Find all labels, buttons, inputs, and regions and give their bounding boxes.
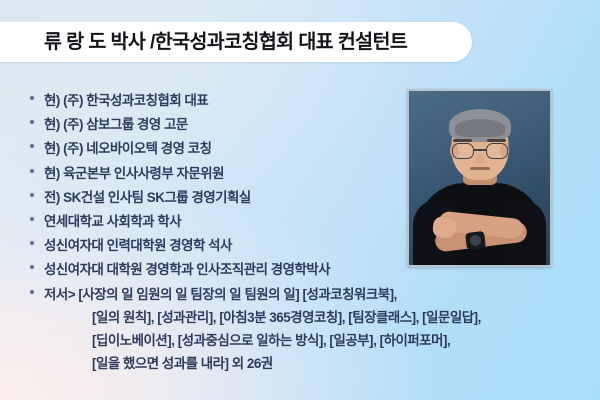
bullet-dot-icon	[30, 290, 34, 294]
portrait-eyebrow-right	[487, 139, 506, 142]
list-item-label: 연세대학교 사회학과 학사	[44, 214, 181, 229]
bullet-dot-icon	[30, 241, 34, 245]
list-item-books: 저서> [사장의 일 임원의 일 팀장의 일 팀원의 일] [성과코칭워크북],…	[28, 283, 600, 372]
bullet-dot-icon	[30, 265, 34, 269]
glasses-lens-left	[452, 143, 474, 159]
list-item: 현) (주) 한국성과코칭협회 대표	[28, 89, 408, 109]
books-line-4: [일을 했으면 성과를 내라] 외 26권	[44, 352, 600, 372]
portrait-eyebrow-left	[453, 139, 472, 142]
list-item-label: 현) 육군본부 인사사령부 자문위원	[44, 166, 224, 181]
bullet-dot-icon	[30, 144, 34, 148]
slide-canvas: 류 랑 도 박사 /한국성과코칭협회 대표 컨설턴트 현) (주) 한국성과코칭…	[0, 0, 600, 400]
list-item-label: 전) SK건설 인사팀 SK그룹 경영기획실	[44, 190, 251, 205]
books-line-2: [일의 원칙], [성과관리], [아침3분 365경영코칭], [팀장클래스]…	[44, 306, 600, 326]
list-item-label: 현) (주) 네오바이오텍 경영 코칭	[44, 141, 212, 156]
list-item-label: 성신여자대 대학원 경영학과 인사조직관리 경영학박사	[44, 262, 330, 277]
books-line-3: [딥이노베이션], [성과중심으로 일하는 방식], [일공부], [하이퍼포머…	[44, 329, 600, 349]
portrait-hair	[449, 109, 511, 142]
bullet-dot-icon	[30, 120, 34, 124]
books-line-1: 저서> [사장의 일 임원의 일 팀장의 일 팀원의 일] [성과코칭워크북],	[44, 287, 397, 302]
list-item-label: 현) (주) 삼보그룹 경영 고문	[44, 117, 188, 132]
list-item: 성신여자대 인력대학원 경영학 석사	[28, 234, 408, 254]
bullet-dot-icon	[30, 96, 34, 100]
page-title: 류 랑 도 박사 /한국성과코칭협회 대표 컨설턴트	[44, 23, 464, 61]
list-item: 전) SK건설 인사팀 SK그룹 경영기획실	[28, 186, 408, 206]
portrait-nose	[475, 155, 485, 164]
glasses-lens-right	[486, 143, 508, 159]
list-item-label: 성신여자대 인력대학원 경영학 석사	[44, 238, 232, 253]
list-item-label: 현) (주) 한국성과코칭협회 대표	[44, 93, 208, 108]
list-item: 현) 육군본부 인사사령부 자문위원	[28, 162, 408, 182]
portrait-photo	[407, 89, 552, 267]
glasses-bridge	[474, 149, 486, 151]
bullet-dot-icon	[30, 193, 34, 197]
bio-list: 현) (주) 한국성과코칭협회 대표 현) (주) 삼보그룹 경영 고문 현) …	[28, 89, 408, 376]
bullet-dot-icon	[30, 217, 34, 221]
list-item: 현) (주) 네오바이오텍 경영 코칭	[28, 137, 408, 157]
portrait-mouth	[470, 167, 490, 170]
wristwatch-icon	[465, 231, 486, 250]
list-item: 현) (주) 삼보그룹 경영 고문	[28, 113, 408, 133]
bullet-dot-icon	[30, 169, 34, 173]
list-item: 연세대학교 사회학과 학사	[28, 210, 408, 230]
